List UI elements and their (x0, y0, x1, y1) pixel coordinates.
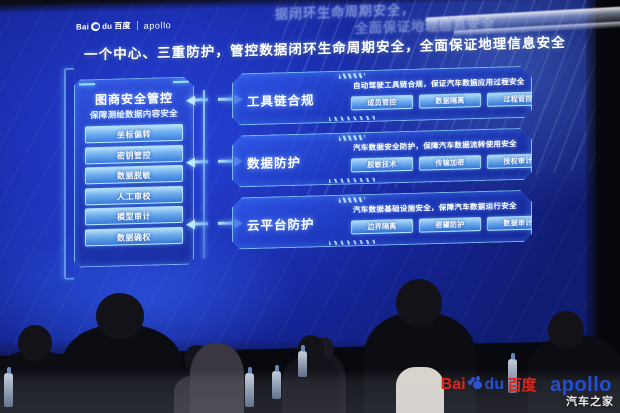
arrow-right-icon (218, 221, 234, 224)
apollo-logo-small: apollo (144, 20, 172, 31)
pillar-top-accent-icon (339, 73, 365, 79)
arrow-left-icon (194, 222, 208, 225)
pillar-bottom-accent-icon (329, 178, 375, 183)
water-bottle (272, 371, 281, 399)
baidu-bai-text: Bai (441, 377, 466, 393)
bottom-logo-row: Bai du 百度 apollo (441, 375, 612, 395)
pillar-title: 云平台防护 (247, 213, 315, 234)
site-watermark: 汽车之家 (566, 393, 614, 409)
left-panel-title: 图商安全管控 (75, 89, 193, 109)
arrow-right-icon (218, 97, 234, 100)
left-panel-map-security: 图商安全管控 保障测绘数据内容安全 坐标偏转 密钥管控 数据脱敏 人工审校 模型… (74, 77, 194, 268)
pillar-tag: 数据审计 (487, 215, 549, 231)
pillar-cloud-platform-protection: 云平台防护 汽车数据基础设施安全，保障汽车数据运行安全 边界隔离 密罐防护 数据… (232, 190, 532, 250)
baidu-logo: Bai du 百度 (441, 377, 536, 393)
pillar-toolchain-compliance: 工具链合规 自动驾驶工具链合规，保证汽车数据应用过程安全 成员管控 数据隔离 过… (232, 66, 532, 126)
list-item: 密钥管控 (85, 144, 183, 164)
arrow-left-icon (194, 160, 208, 163)
water-bottle (4, 373, 13, 407)
pillar-description: 汽车数据基础设施安全，保障汽车数据运行安全 (353, 200, 517, 215)
list-item: 数据脱敏 (85, 165, 183, 185)
pillar-tag: 密罐防护 (419, 217, 481, 233)
baidu-logo-small: Baidu百度 (76, 20, 131, 32)
list-item: 坐标偏转 (85, 124, 183, 144)
pillar-tag: 过程管控 (487, 91, 549, 107)
arrow-right-icon (218, 159, 234, 162)
slide-brand-bar: Baidu百度 apollo (76, 19, 171, 32)
pillar-top-accent-icon (339, 197, 365, 203)
pillar-top-accent-icon (339, 135, 365, 141)
pillar-tag: 数据隔离 (419, 93, 481, 109)
audience-head (396, 279, 442, 327)
pillar-data-protection: 数据防护 汽车数据安全防护，保障汽车数据流转使用安全 脱敏技术 传输加密 授权审… (232, 128, 532, 188)
pillar-title: 工具链合规 (247, 89, 315, 110)
pillar-bottom-accent-icon (329, 240, 375, 245)
baidu-cn-text: 百度 (507, 378, 536, 393)
baidu-cn-text: 百度 (114, 20, 130, 31)
pillar-tag: 成员管控 (351, 95, 413, 111)
audience-head (96, 293, 144, 339)
connector-spine (203, 90, 205, 258)
baidu-du-text: du (485, 377, 505, 393)
pillar-description: 汽车数据安全防护，保障汽车数据流转使用安全 (353, 138, 517, 153)
screenshot-stage: Baidu百度 apollo 一个中心、三重防护，管控数据闭环生命周期安全，全面… (0, 0, 620, 413)
baidu-paw-icon (468, 378, 483, 392)
left-panel-subtitle: 保障测绘数据内容安全 (75, 107, 193, 122)
water-bottle (245, 373, 254, 407)
audience-head (18, 325, 52, 361)
left-panel-bracket (64, 68, 74, 280)
pillar-description: 自动驾驶工具链合规，保证汽车数据应用过程安全 (353, 76, 525, 91)
pillar-tag: 授权审计 (487, 153, 549, 169)
left-panel-item-list: 坐标偏转 密钥管控 数据脱敏 人工审校 模型审计 数据确权 (85, 124, 183, 246)
pillar-title: 数据防护 (247, 152, 301, 172)
brand-divider (137, 21, 138, 30)
baidu-du-text: du (102, 22, 112, 31)
pillar-bottom-accent-icon (329, 116, 375, 121)
presentation-slide: Baidu百度 apollo 一个中心、三重防护，管控数据闭环生命周期安全，全面… (62, 0, 562, 320)
list-item: 数据确权 (85, 226, 183, 246)
baidu-paw-icon (91, 22, 100, 31)
pillar-tag: 传输加密 (419, 155, 481, 171)
apollo-logo: apollo (550, 375, 612, 395)
pillar-tag: 脱敏技术 (351, 157, 413, 173)
corner-accent-right-icon (173, 81, 189, 83)
baidu-latin-text: Bai (76, 22, 89, 31)
list-item: 人工审校 (85, 185, 183, 205)
corner-accent-left-icon (79, 83, 95, 85)
water-bottle (298, 351, 307, 377)
list-item: 模型审计 (85, 206, 183, 226)
pillar-tag: 边界隔离 (351, 219, 413, 235)
arrow-left-icon (194, 98, 208, 101)
audience-head (548, 311, 584, 349)
